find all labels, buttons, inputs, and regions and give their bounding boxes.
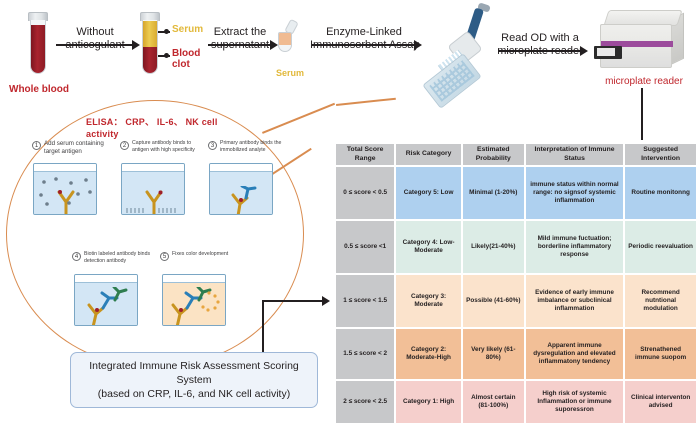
- step-caption-4: Biotin labeled antibody binds detection …: [84, 251, 158, 264]
- microplate-reader: [600, 10, 690, 72]
- step-caption-2: Capture antibody binds to antigen with h…: [132, 140, 206, 153]
- microplate-reader-label: microplate reader: [590, 76, 698, 87]
- serum-fill: [279, 33, 291, 45]
- cell-score-range: 0 ≤ score < 0.5: [336, 167, 394, 219]
- step-caption-5: Fixes color development: [172, 251, 246, 258]
- magnifier-arm-upper: [262, 103, 335, 134]
- caption-line-2: (based on CRP, IL-6, and NK cell activit…: [79, 387, 309, 401]
- cell-interpretation: Mild immune fuctuation; borderline infla…: [526, 221, 624, 273]
- step-extract-supernatant: Extract the supernatant: [204, 26, 276, 52]
- step-read-od: Read OD with a microplate reader: [492, 32, 588, 58]
- col-header-total-score-range: Total Score Range: [336, 144, 394, 165]
- elisa-well-1-icon: [33, 163, 97, 215]
- col-header-estimated-probability: Estimated Probability: [463, 144, 524, 165]
- well-meniscus: [122, 164, 184, 172]
- well-meniscus: [163, 275, 225, 283]
- elisa-well-2-icon: [121, 163, 185, 215]
- cell-probability: Almost certain (81-100%): [463, 381, 524, 423]
- blood-fill: [31, 25, 45, 73]
- magnifier-arm-tip: [336, 98, 396, 106]
- col-header-suggested-intervention: Suggested Intervention: [625, 144, 696, 165]
- serum-label: Serum: [172, 24, 203, 35]
- table-header-row: Total Score Range Risk Category Estimate…: [336, 144, 696, 165]
- color-development-icon: [169, 287, 223, 326]
- step-caption-1: Add serum containing target antigen: [44, 140, 118, 155]
- table-row: 1 ≤ score < 1.5 Category 3: Moderate Pos…: [336, 275, 696, 327]
- cell-probability: Likely(21-40%): [463, 221, 524, 273]
- table-row: 0.5 ≤ score <1 Category 4: Low-Moderate …: [336, 221, 696, 273]
- caption-line-1: Integrated Immune Risk Assessment Scorin…: [79, 359, 309, 387]
- cell-intervention: Strenathened immune suopom: [625, 329, 696, 379]
- cell-interpretation: immune status within normal range: no si…: [526, 167, 624, 219]
- col-header-risk-category: Risk Category: [396, 144, 461, 165]
- elisa-well-3-icon: [209, 163, 273, 215]
- cell-probability: Possible (41-60%): [463, 275, 524, 327]
- step-number-5: 5: [160, 252, 169, 261]
- serum-fill: [143, 21, 157, 47]
- cell-risk-category: Category 2: Moderate-High: [396, 329, 461, 379]
- callout-line-serum: [158, 31, 170, 33]
- microplate-wells: [429, 60, 474, 102]
- step-number-3: 3: [208, 141, 217, 150]
- callout-line-clot: [158, 55, 170, 57]
- blood-clot-fill: [143, 47, 157, 73]
- scoring-system-caption: Integrated Immune Risk Assessment Scorin…: [70, 352, 318, 408]
- cell-risk-category: Category 3: Moderate: [396, 275, 461, 327]
- microcentrifuge-tube: [278, 22, 304, 66]
- cell-intervention: Clinical interventon advised: [625, 381, 696, 423]
- step-without-anticoagulant: Without anticogulant: [56, 26, 134, 52]
- diagram-canvas: Whole blood Without anticogulant Serum B…: [0, 0, 700, 412]
- risk-score-table: Total Score Range Risk Category Estimate…: [334, 142, 698, 425]
- cell-score-range: 1 ≤ score < 1.5: [336, 275, 394, 327]
- cell-interpretation: Evidence of early immune imbalance or su…: [526, 275, 624, 327]
- cell-intervention: Periodic reevaluation: [625, 221, 696, 273]
- connector-caption-arrow-icon: [322, 296, 330, 306]
- tube-body: [278, 32, 292, 52]
- cell-risk-category: Category 1: High: [396, 381, 461, 423]
- cell-probability: Very likely (61-80%): [463, 329, 524, 379]
- antigen-particles-icon: [38, 176, 96, 210]
- connector-reader-to-table: [641, 88, 643, 140]
- whole-blood-label: Whole blood: [9, 84, 69, 95]
- table-row: 0 ≤ score < 0.5 Category 5: Low Minimal …: [336, 167, 696, 219]
- col-header-interpretation: Interpretation of Immune Status: [526, 144, 624, 165]
- step-number-2: 2: [120, 141, 129, 150]
- reader-tray-icon: [594, 46, 622, 59]
- cell-intervention: Routine monitonng: [625, 167, 696, 219]
- cell-risk-category: Category 4: Low-Moderate: [396, 221, 461, 273]
- elisa-well-4-icon: [74, 274, 138, 326]
- well-meniscus: [75, 275, 137, 283]
- well-coating-icon: [125, 204, 183, 214]
- cell-score-range: 0.5 ≤ score <1: [336, 221, 394, 273]
- cell-intervention: Recommend nutntional modulation: [625, 275, 696, 327]
- serum-clot-tube: [140, 12, 160, 74]
- step-number-4: 4: [72, 252, 81, 261]
- well-meniscus: [210, 164, 272, 172]
- cell-interpretation: Apparent immune dysregulation and elevat…: [526, 329, 624, 379]
- tube-body: [142, 20, 158, 74]
- cell-score-range: 1.5 ≤ score < 2: [336, 329, 394, 379]
- cell-risk-category: Category 5: Low: [396, 167, 461, 219]
- primary-antibody-icon: [228, 186, 258, 215]
- step-elisa: Enzyme-Linked Immunosorbent Assay: [310, 26, 418, 52]
- elisa-panel-title: ELISA： CRP、 IL-6、 NK cell activity: [86, 116, 266, 140]
- well-meniscus: [34, 164, 96, 172]
- tube-body: [30, 20, 46, 74]
- elisa-well-5-icon: [162, 274, 226, 326]
- biotin-labeled-antibody-icon: [85, 287, 129, 326]
- microplate-icon: [422, 53, 481, 109]
- connector-caption-horizontal: [262, 300, 324, 302]
- cell-probability: Minimal (1-20%): [463, 167, 524, 219]
- whole-blood-tube: [28, 12, 48, 74]
- step-caption-3: Primary antibody binds the immobilized a…: [220, 140, 294, 153]
- step-number-1: 1: [32, 141, 41, 150]
- connector-caption-vertical: [262, 300, 264, 352]
- cell-score-range: 2 ≤ score < 2.5: [336, 381, 394, 423]
- blood-clot-label: Blood clot: [172, 48, 206, 70]
- table-row: 1.5 ≤ score < 2 Category 2: Moderate-Hig…: [336, 329, 696, 379]
- table-row: 2 ≤ score < 2.5 Category 1: High Almost …: [336, 381, 696, 423]
- serum-label-2: Serum: [276, 68, 304, 78]
- cell-interpretation: High risk of systemic Inflammatlon or im…: [526, 381, 624, 423]
